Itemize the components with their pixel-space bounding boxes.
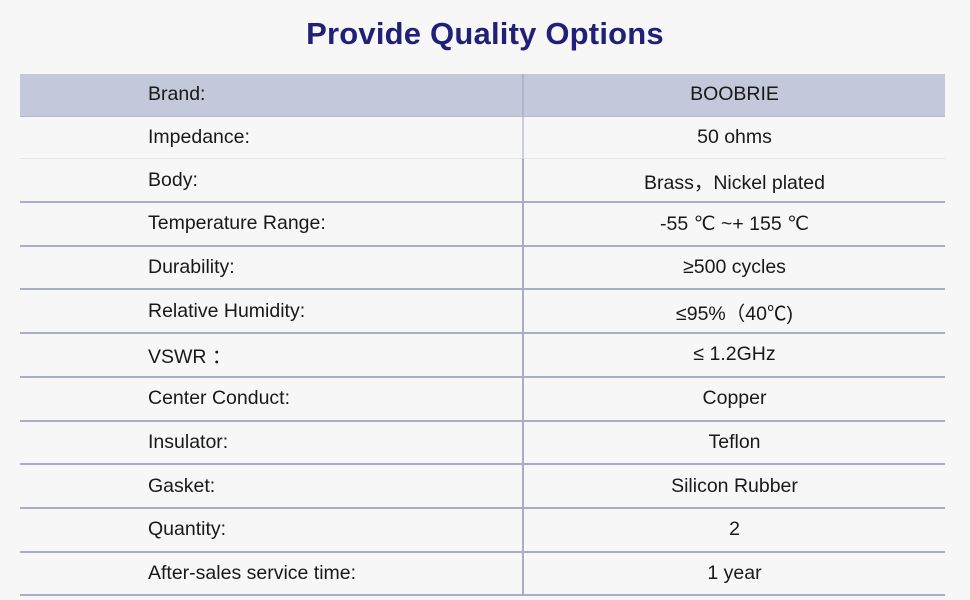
table-row: Body:Brass，Nickel plated: [20, 159, 945, 202]
table-row: Relative Humidity:≤95%（40℃): [20, 289, 945, 333]
spec-label: Insulator:: [20, 421, 523, 465]
spec-sheet-page: Provide Quality Options Brand:BOOBRIEImp…: [0, 0, 970, 600]
spec-label: Quantity:: [20, 508, 523, 552]
table-row: Insulator:Teflon: [20, 421, 945, 465]
table-row: After-sales service time:1 year: [20, 552, 945, 596]
spec-value: ≤95%（40℃): [523, 289, 945, 333]
spec-value: Brass，Nickel plated: [523, 159, 945, 202]
spec-value: Silicon Rubber: [523, 464, 945, 508]
specifications-table: Brand:BOOBRIEImpedance:50 ohmsBody:Brass…: [20, 74, 945, 596]
spec-value: 1 year: [523, 552, 945, 596]
spec-value: ≥500 cycles: [523, 246, 945, 290]
spec-label: Center Conduct:: [20, 377, 523, 421]
spec-label: VSWR ：: [20, 333, 523, 377]
page-title: Provide Quality Options: [0, 16, 970, 52]
spec-value: -55 ℃ ~+ 155 ℃: [523, 202, 945, 246]
specifications-table-body: Brand:BOOBRIEImpedance:50 ohmsBody:Brass…: [20, 74, 945, 595]
spec-label: Relative Humidity:: [20, 289, 523, 333]
spec-label: Gasket:: [20, 464, 523, 508]
table-row: Center Conduct:Copper: [20, 377, 945, 421]
table-row: Temperature Range:-55 ℃ ~+ 155 ℃: [20, 202, 945, 246]
spec-label: Impedance:: [20, 116, 523, 159]
spec-value: Copper: [523, 377, 945, 421]
spec-value: ≤ 1.2GHz: [523, 333, 945, 377]
spec-value: Teflon: [523, 421, 945, 465]
spec-label: Body:: [20, 159, 523, 202]
spec-label: Durability:: [20, 246, 523, 290]
spec-label: Brand:: [20, 74, 523, 116]
table-row: Durability:≥500 cycles: [20, 246, 945, 290]
spec-value: BOOBRIE: [523, 74, 945, 116]
spec-label: Temperature Range:: [20, 202, 523, 246]
table-row: Gasket:Silicon Rubber: [20, 464, 945, 508]
table-row: VSWR ：≤ 1.2GHz: [20, 333, 945, 377]
table-row: Quantity:2: [20, 508, 945, 552]
spec-label: After-sales service time:: [20, 552, 523, 596]
table-row: Brand:BOOBRIE: [20, 74, 945, 116]
table-row: Impedance:50 ohms: [20, 116, 945, 159]
spec-value: 2: [523, 508, 945, 552]
spec-value: 50 ohms: [523, 116, 945, 159]
